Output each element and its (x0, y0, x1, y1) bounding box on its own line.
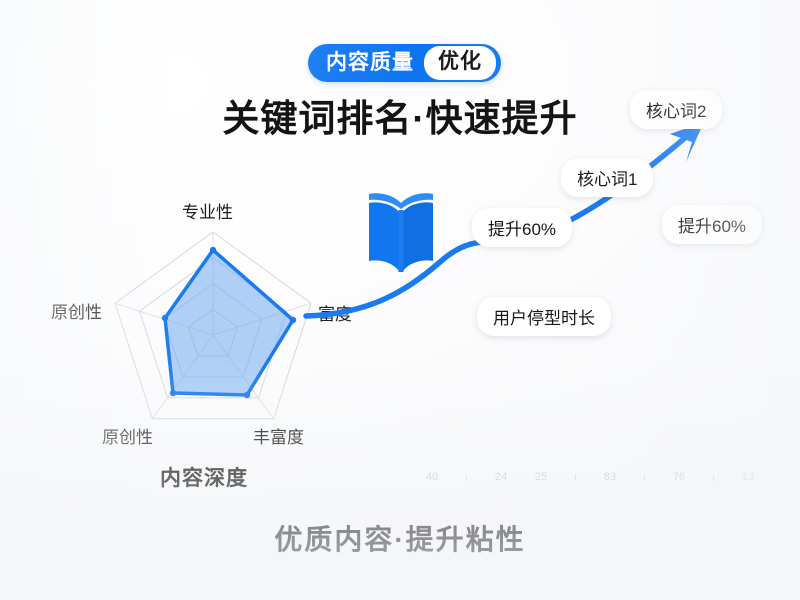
badge-chip-label: 优化 (424, 46, 496, 80)
ruler-tick-5: 13 (728, 471, 768, 483)
footer-title: 优质内容·提升粘性 (0, 518, 800, 558)
callout-lift-right[interactable]: 提升60% (662, 205, 762, 244)
callout-dwell-time[interactable]: 用户停型时长 (477, 297, 611, 336)
callout-lift-left[interactable]: 提升60% (472, 208, 572, 247)
ruler-tick-0: 40 (412, 471, 452, 483)
radar-data-area (165, 250, 293, 395)
radar-label-0: 专业性 (182, 198, 233, 223)
ruler-mark (644, 474, 645, 481)
ruler-tick-1: 24 (481, 471, 521, 483)
content-quality-badge[interactable]: 内容质量 优化 (308, 44, 501, 82)
radar-label-4: 原创性 (51, 298, 102, 323)
callout-core-keyword-2[interactable]: 核心词2 (630, 90, 722, 129)
callout-core-keyword-1[interactable]: 核心词1 (561, 158, 653, 197)
ruler-tick-2: 25 (521, 471, 561, 483)
poster-canvas: 内容质量 优化 关键词排名·快速提升 (0, 0, 800, 600)
radar-label-3: 原创性 (102, 423, 153, 448)
ruler-mark (713, 474, 714, 481)
scale-ruler: 40 24 25 83 76 13 (412, 466, 792, 488)
ruler-tick-3: 83 (590, 471, 630, 483)
radar-caption: 内容深度 (160, 462, 248, 492)
ruler-mark (466, 474, 467, 481)
ruler-tick-4: 76 (659, 471, 699, 483)
radar-label-2: 丰富度 (253, 423, 304, 448)
ruler-mark (575, 474, 576, 481)
badge-primary-label: 内容质量 (308, 44, 424, 82)
